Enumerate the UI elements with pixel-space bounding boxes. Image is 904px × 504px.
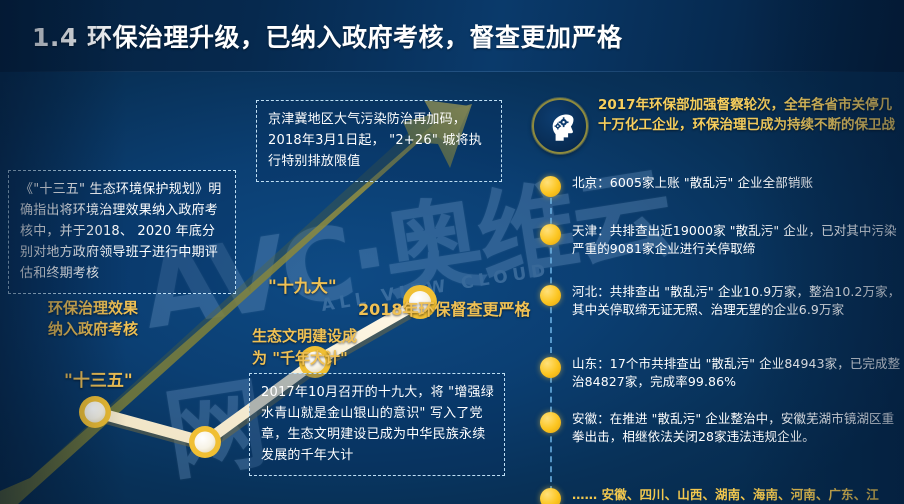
page-title: 1.4 环保治理升级，已纳入政府考核，督查更加严格 — [32, 18, 623, 54]
chart-label-13th-five-year: "十三五" — [64, 366, 133, 391]
list-item-label: 天津：共排查出近19000家 "散乱污" 企业，已对其中污染严重的9081家企业… — [572, 222, 904, 258]
callout-jingjinji-emission: 京津冀地区大气污染防治再加码，2018年3月1日起， "2+26" 城将执行特别… — [256, 100, 502, 182]
list-item-label: 北京：6005家上账 "散乱污" 企业全部销账 — [572, 174, 904, 192]
chart-label-2018-inspection: 2018年环保督查更严格 — [358, 296, 531, 320]
right-panel-headline: 2017年环保部加强督察轮次，全年各省市关停几十万化工企业，环保治理已成为持续不… — [598, 96, 904, 135]
callout-13th-five-year-plan: 《"十三五" 生态环境保护规划》明确指出将环境治理效果纳入政府考核中，并于201… — [8, 170, 236, 294]
bullet-dot-icon — [540, 412, 561, 433]
callout-19th-congress: 2017年10月召开的十九大，将 "增强绿水青山就是金山银山的意识" 写入了党章… — [249, 373, 505, 476]
bullet-dot-icon — [540, 224, 561, 245]
bullet-dot-icon — [540, 176, 561, 197]
chart-label-eco-civilization: 生态文明建设成 为 "千年大计" — [252, 325, 357, 369]
chart-label-19th-congress: "十九大" — [268, 272, 337, 297]
brain-gears-icon — [532, 98, 588, 154]
list-item-label: …… 安徽、四川、山西、湖南、海南、河南、广东、江苏、浙江等地也陆续关停了众多 … — [572, 486, 904, 504]
list-item-label: 山东：17个市共排查出 "散乱污" 企业84943家，已完成整治84827家，完… — [572, 355, 904, 391]
bullet-dot-icon — [540, 357, 561, 378]
bullet-dot-icon — [540, 285, 561, 306]
chart-node[interactable] — [79, 396, 111, 428]
chart-node[interactable] — [189, 426, 221, 458]
right-panel: 2017年环保部加强督察轮次，全年各省市关停几十万化工企业，环保治理已成为持续不… — [528, 88, 904, 504]
bullet-dot-icon — [540, 488, 561, 504]
list-item-label: 河北：共排查出 "散乱污" 企业10.9万家，整治10.2万家，其中关停取缔无证… — [572, 283, 904, 319]
right-panel-header: 2017年环保部加强督察轮次，全年各省市关停几十万化工企业，环保治理已成为持续不… — [528, 96, 904, 158]
slide-canvas: 1.4 环保治理升级，已纳入政府考核，督查更加严格 AVC·奥维云网 ALL V… — [0, 0, 904, 504]
timeline-list: 北京：6005家上账 "散乱污" 企业全部销账 天津：共排查出近19000家 "… — [528, 172, 904, 504]
chart-label-assessment: 环保治理效果 纳入政府考核 — [48, 298, 138, 340]
list-item-label: 安徽：在推进 "散乱污" 企业整治中，安徽芜湖市镜湖区重拳出击，相继依法关闭28… — [572, 410, 904, 446]
